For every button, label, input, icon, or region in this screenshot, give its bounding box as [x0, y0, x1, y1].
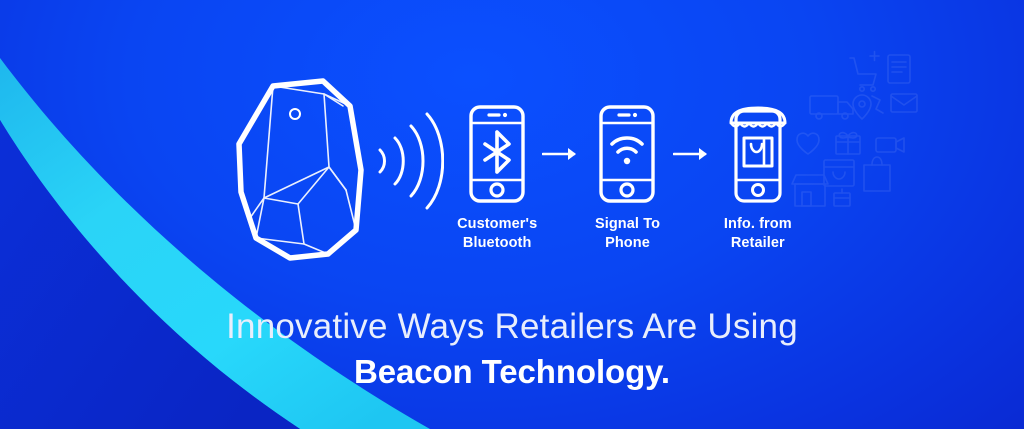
flow-step-label: Customer's Bluetooth	[457, 215, 537, 253]
phone-wifi-icon	[594, 104, 660, 204]
flow-step-label: Info. from Retailer	[724, 215, 792, 253]
flow-step-signal-to-phone: Signal To Phone	[585, 104, 669, 253]
signal-waves-icon	[372, 102, 444, 220]
gift-icon	[836, 133, 860, 154]
shopping-cart-plus-icon	[850, 52, 879, 92]
flow-step-customers-bluetooth: Customer's Bluetooth	[455, 104, 539, 253]
beacon-technology-banner: Customer's Bluetooth	[0, 0, 1024, 429]
phone-bluetooth-icon	[464, 104, 530, 204]
headline-line-2: Beacon Technology.	[0, 348, 1024, 396]
shopping-bag-icon	[864, 157, 890, 191]
phone-store-icon	[725, 104, 791, 204]
envelope-icon	[891, 94, 917, 112]
headline-line-1: Innovative Ways Retailers Are Using	[0, 306, 1024, 348]
flow-arrow-1	[539, 104, 585, 204]
flow-step-label: Signal To Phone	[595, 215, 660, 253]
heart-icon	[797, 133, 819, 154]
shop-bag-icon	[824, 160, 854, 186]
video-camera-icon	[876, 138, 904, 152]
beacon-device-graphic	[228, 72, 378, 272]
truck-icon	[810, 96, 853, 119]
headline: Innovative Ways Retailers Are Using Beac…	[0, 306, 1024, 396]
flow-arrow-2	[670, 104, 716, 204]
flow-step-info-from-retailer: Info. from Retailer	[716, 104, 800, 253]
document-icon	[888, 55, 910, 83]
beacon-flow-steps: Customer's Bluetooth	[455, 104, 800, 254]
small-box-icon	[834, 189, 850, 206]
location-pin-icon	[853, 95, 883, 119]
decorative-ecommerce-icons	[788, 50, 938, 210]
